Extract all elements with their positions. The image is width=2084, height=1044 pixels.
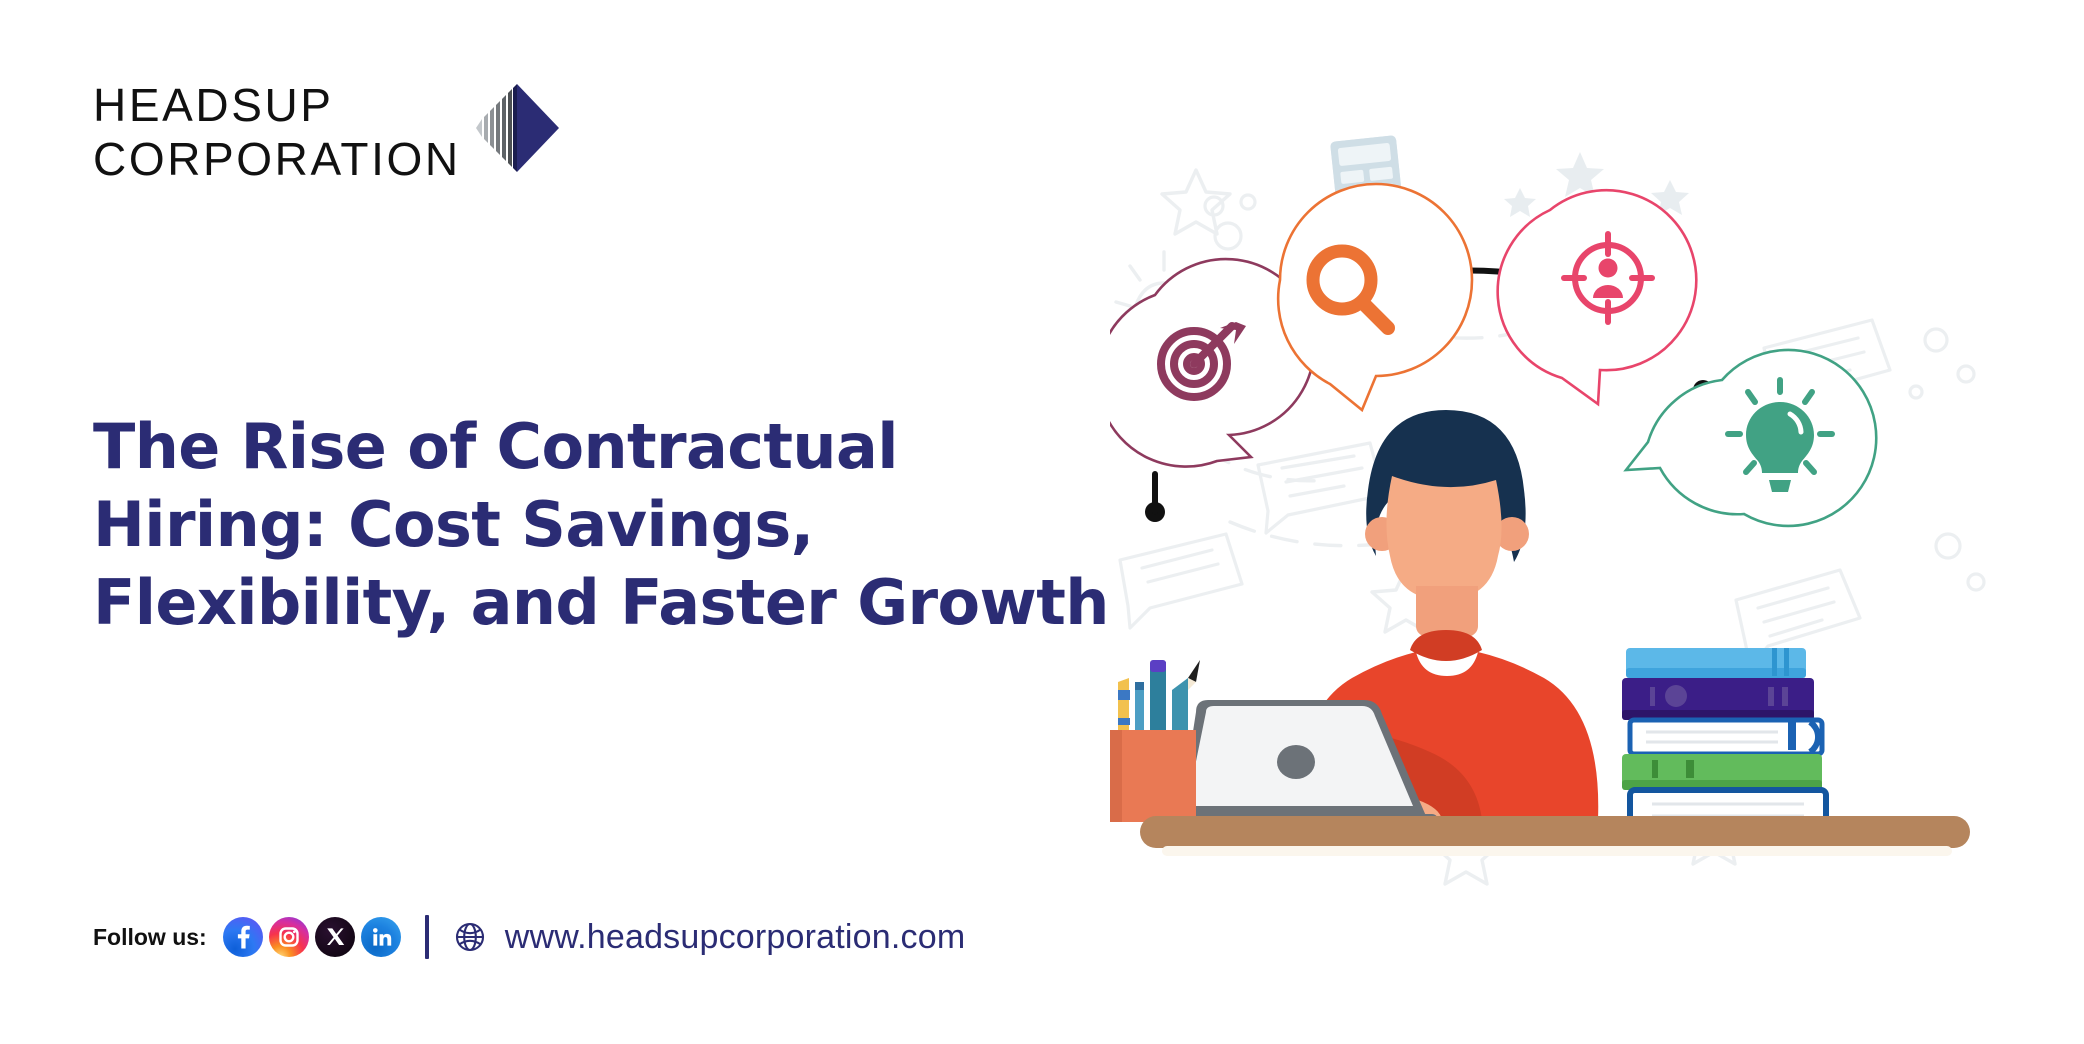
x-twitter-icon[interactable] bbox=[315, 917, 355, 957]
linkedin-icon[interactable] bbox=[361, 917, 401, 957]
globe-icon bbox=[451, 918, 489, 956]
facebook-icon[interactable] bbox=[223, 917, 263, 957]
brand-name-line-2: CORPORATION bbox=[93, 132, 461, 186]
bubble-candidate bbox=[1498, 190, 1697, 404]
bubble-idea bbox=[1626, 350, 1876, 526]
page-title: The Rise of Contractual Hiring: Cost Sav… bbox=[93, 408, 1113, 642]
instagram-icon[interactable] bbox=[269, 917, 309, 957]
pencil-cup bbox=[1110, 660, 1200, 822]
brand-name-line-1: HEADSUP bbox=[93, 78, 461, 132]
arrow-diamond-logo-mark bbox=[475, 82, 561, 179]
poster-canvas: HEADSUP CORPORATION The Rise of Contract… bbox=[0, 0, 2084, 1044]
footer-divider bbox=[425, 915, 429, 959]
desk-surface bbox=[1140, 816, 1970, 848]
page-title-line-3: Flexibility, and Faster Growth bbox=[93, 564, 1113, 642]
brand-logo[interactable]: HEADSUP CORPORATION bbox=[93, 78, 561, 187]
page-title-line-2: Hiring: Cost Savings, bbox=[93, 486, 1113, 564]
recruitment-workflow-illustration bbox=[1110, 130, 1990, 890]
website-url[interactable]: www.headsupcorporation.com bbox=[505, 918, 966, 957]
page-title-line-1: The Rise of Contractual bbox=[93, 408, 1113, 486]
desk-shadow bbox=[1162, 846, 1952, 856]
brand-logo-text: HEADSUP CORPORATION bbox=[93, 78, 461, 187]
book-stack bbox=[1622, 648, 1826, 830]
follow-us-label: Follow us: bbox=[93, 924, 207, 951]
footer-social-bar: Follow us: bbox=[93, 915, 965, 959]
